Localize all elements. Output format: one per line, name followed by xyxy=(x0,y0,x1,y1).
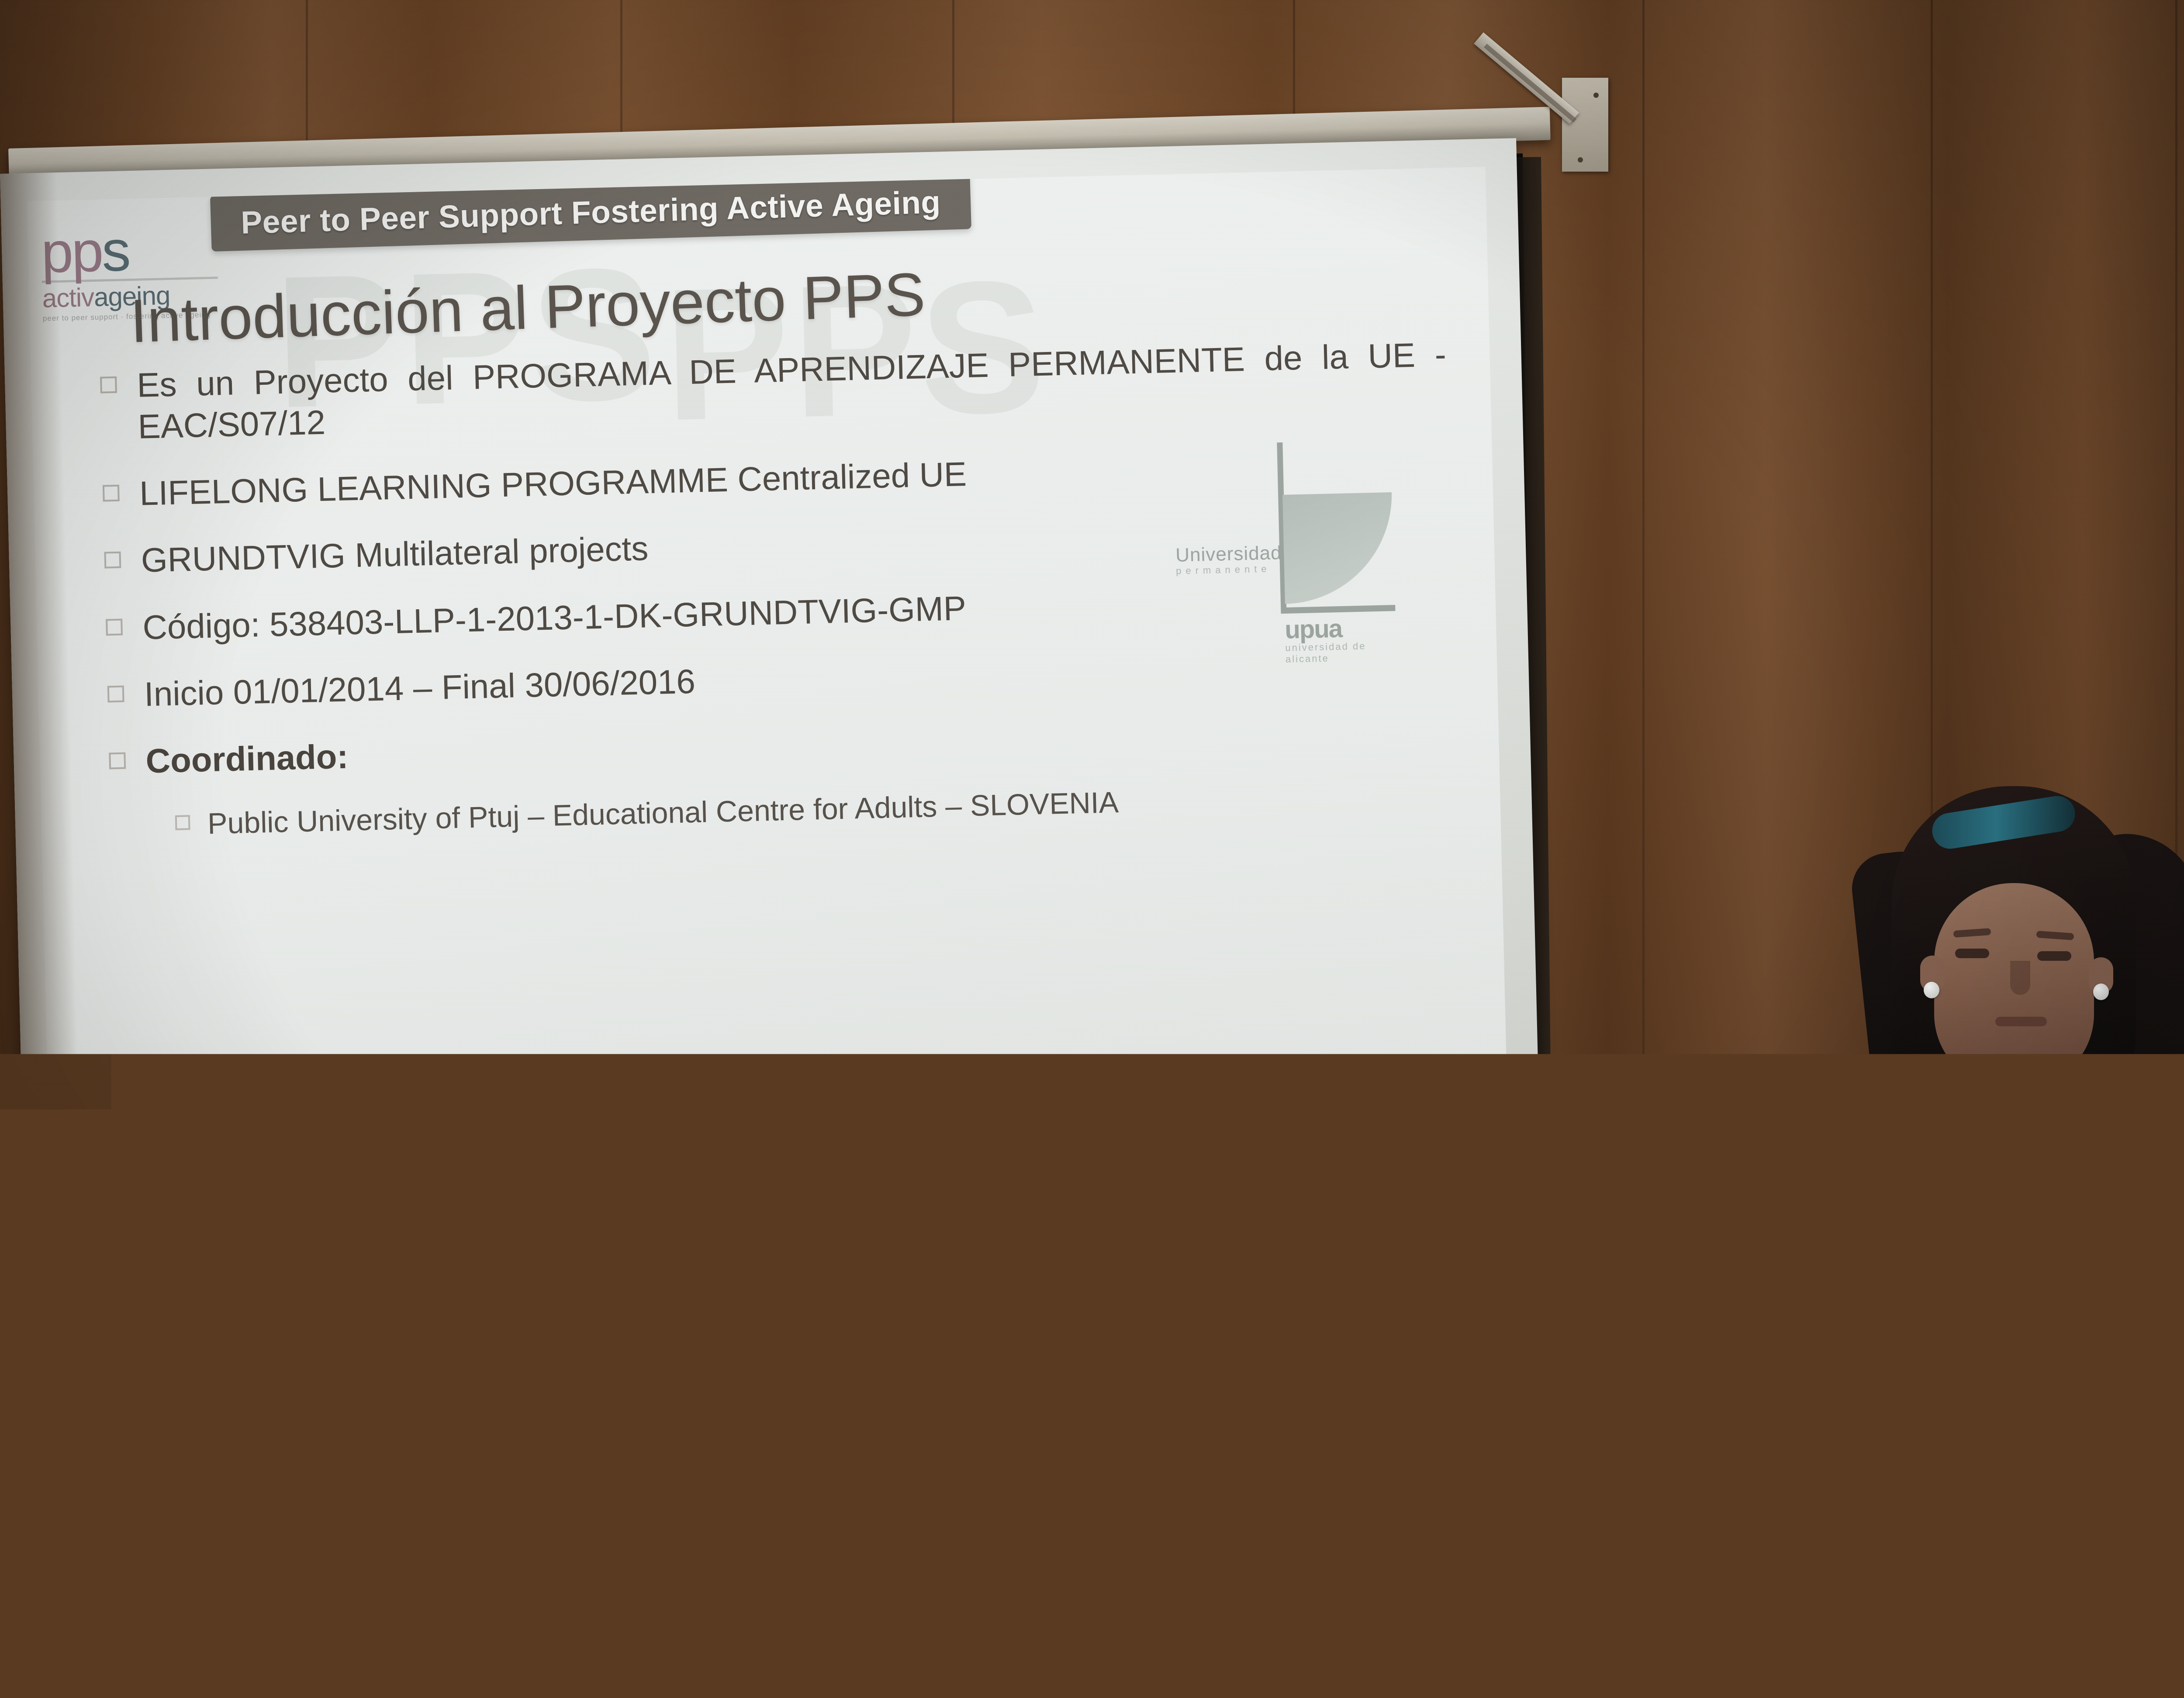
pps-letter-p2: p xyxy=(101,1126,128,1170)
audience-collar xyxy=(2092,1655,2184,1698)
logo-tagline: peer to peer support · fostering active … xyxy=(78,1200,209,1218)
bullet-text: LIFELONG LEARNING PROGRAMME Centralized … xyxy=(139,455,967,513)
bullet-square-icon xyxy=(109,752,126,770)
pps-letter-p2: p xyxy=(71,226,102,278)
bracket-plate xyxy=(1562,78,1608,172)
presenter-mouth xyxy=(1995,1017,2047,1026)
projection-screen: PPS PPS p p s activageing peer to peer s… xyxy=(0,138,1543,1322)
activeageing-wordmark: activageing xyxy=(77,1174,208,1200)
presentation-slide: PPS PPS p p s activageing peer to peer s… xyxy=(27,167,1511,1293)
upua-wordmark: upua xyxy=(1285,614,1342,645)
table-edge xyxy=(0,1660,1507,1698)
bullet-text: Código: 538403-LLP-1-2013-1-DK-GRUNDTVIG… xyxy=(142,589,967,646)
bracket-screw xyxy=(1593,93,1599,98)
bullet-text: Inicio 01/01/2014 – Final 30/06/2016 xyxy=(144,662,696,714)
upua-label-permanente: permanente xyxy=(1176,563,1271,577)
audience-member-gray-hair xyxy=(1974,1288,2184,1698)
bullet-text: GRUNDTVIG Multilateral projects xyxy=(141,529,649,580)
bullet-square-icon xyxy=(100,376,117,393)
presenter-nose xyxy=(2010,961,2030,995)
logo-word-ageing: ageing xyxy=(121,1173,187,1201)
bullet-square-icon xyxy=(175,815,190,830)
upua-shell-shape xyxy=(1282,492,1394,604)
presenter-eye xyxy=(1955,949,1989,958)
screen-wall-bracket xyxy=(1477,26,1608,157)
pps-letter-s: s xyxy=(127,1125,150,1170)
pps-letter-s: s xyxy=(101,225,130,277)
pps-wordmark: p p s xyxy=(41,223,225,279)
bullet-item: Inicio 01/01/2014 – Final 30/06/2016 xyxy=(104,643,1454,716)
gray-hair-side xyxy=(1966,1306,2110,1612)
microphone-head xyxy=(1396,1315,1433,1356)
bullet-square-icon xyxy=(103,485,120,502)
conference-room-photo: PPS PPS p p s activageing peer to peer s… xyxy=(0,0,2184,1698)
upua-base-shape xyxy=(1281,605,1395,614)
logo-word-activ: activ xyxy=(77,1175,122,1201)
scalp-highlight xyxy=(1725,1450,1883,1581)
upua-logo: Universidad permanente upua universidad … xyxy=(1225,431,1414,653)
upua-wordmark-sub: universidad de alicante xyxy=(1285,639,1414,665)
earring-icon xyxy=(1924,982,1939,998)
bullet-text: Coordinado: xyxy=(145,737,349,780)
bullet-square-icon xyxy=(106,618,123,635)
hair-part xyxy=(1007,1384,1026,1529)
bracket-screw xyxy=(1578,157,1583,162)
slide-header-banner-text: Peer to Peer Support Fostering Active Ag… xyxy=(240,184,941,241)
presenter-eye xyxy=(2037,951,2071,961)
upua-label-universidad: Universidad xyxy=(1175,542,1282,566)
bullet-square-icon xyxy=(104,552,121,569)
earring-icon xyxy=(2093,984,2109,1000)
bullet-item: Coordinado: xyxy=(105,710,1455,783)
pps-wordmark: p p s xyxy=(76,1124,207,1171)
bullet-square-icon xyxy=(107,685,124,702)
